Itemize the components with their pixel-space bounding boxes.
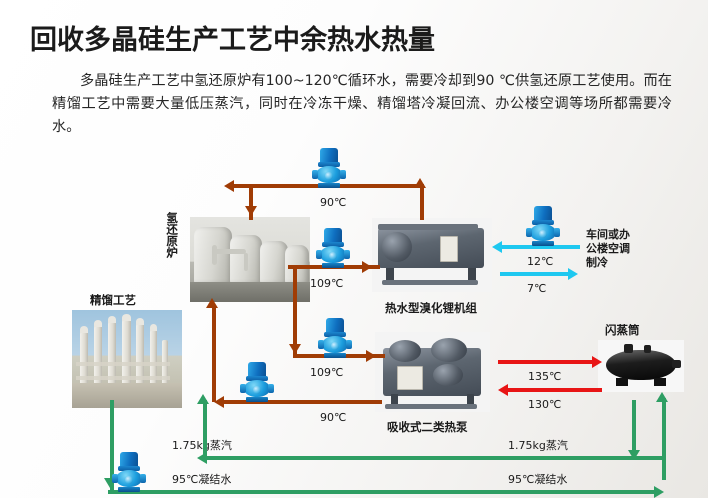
arrow-return-riser-up	[206, 298, 218, 308]
arrow-109-upper-right	[362, 261, 372, 273]
body-paragraph: 多晶硅生产工艺中氢还原炉有100~120℃循环水，需要冷却到90 ℃供氢还原工艺…	[52, 70, 672, 139]
pipe-130c	[506, 388, 602, 392]
pump-upper-icon[interactable]	[316, 228, 350, 268]
arrow-7c-right	[568, 268, 578, 280]
ac-line-1: 车间或办	[586, 228, 630, 242]
reduction-furnace-image	[190, 217, 310, 302]
pipe-return-riser	[212, 306, 216, 402]
steam-label-right: 1.75kg蒸汽	[508, 437, 568, 453]
arrow-green-flash-up	[656, 392, 668, 402]
arrow-branch-drop	[289, 344, 301, 354]
distillation-label: 精馏工艺	[90, 292, 136, 308]
flash-tank-label: 闪蒸筒	[605, 322, 640, 338]
hot-water-libr-chiller-image	[372, 218, 492, 292]
arrow-12c-left	[492, 241, 502, 253]
pump-top-icon[interactable]	[312, 148, 346, 188]
arrow-steam-down-right	[628, 450, 640, 460]
absorption-heat-pump-image	[375, 332, 490, 412]
pump-ac-icon[interactable]	[526, 206, 560, 246]
steam-label-left: 1.75kg蒸汽	[172, 437, 232, 453]
pipe-condensate-horizontal	[108, 490, 660, 494]
arrow-steam-riser-up	[197, 394, 209, 404]
pipe-chilled-supply-7c	[500, 272, 570, 276]
pipe-branch-drop	[293, 265, 297, 356]
temp-label-12c: 12℃	[527, 255, 553, 268]
arrow-into-furnace-top	[245, 206, 257, 216]
pipe-steam-riser-distill	[203, 400, 207, 458]
reduction-furnace-label: 氢还原炉	[166, 212, 178, 258]
distillation-image	[72, 310, 182, 408]
pipe-top-right-riser	[420, 184, 424, 220]
pump-lower-icon[interactable]	[318, 318, 352, 358]
ac-line-2: 公楼空调	[586, 242, 630, 256]
arrow-condensate-right	[654, 486, 664, 498]
ac-line-3: 制冷	[586, 256, 630, 270]
arrow-top-left	[224, 180, 234, 192]
page-title: 回收多晶硅生产工艺中余热水热量	[30, 18, 435, 57]
arrow-109-lower-right	[366, 350, 376, 362]
temp-label-109-upper: 109℃	[310, 277, 343, 290]
flash-tank-image	[598, 340, 684, 392]
temp-label-130c: 130℃	[528, 398, 561, 411]
temp-label-90-top: 90℃	[320, 196, 346, 209]
pipe-green-flash-up	[662, 398, 666, 480]
temp-label-109-lower: 109℃	[310, 366, 343, 379]
condensate-label-left: 95℃凝结水	[172, 471, 231, 487]
temp-label-135c: 135℃	[528, 370, 561, 383]
pump-return-icon[interactable]	[240, 362, 274, 402]
air-conditioning-label: 车间或办 公楼空调 制冷	[586, 228, 630, 270]
arrow-130c-left	[498, 384, 508, 396]
slide-canvas: 回收多晶硅生产工艺中余热水热量 多晶硅生产工艺中氢还原炉有100~120℃循环水…	[0, 0, 708, 498]
condensate-label-right: 95℃凝结水	[508, 471, 567, 487]
pipe-135c	[498, 360, 598, 364]
pump-steam-icon[interactable]	[112, 452, 146, 492]
hot-water-libr-chiller-label: 热水型溴化锂机组	[385, 300, 477, 316]
pipe-steam-horizontal	[205, 456, 665, 460]
absorption-heat-pump-label: 吸收式二类热泵	[387, 419, 468, 435]
temp-label-90-bottom: 90℃	[320, 411, 346, 424]
arrow-135c-right	[592, 356, 602, 368]
temp-label-7c: 7℃	[527, 282, 546, 295]
arrow-top-riser-up	[414, 178, 426, 188]
